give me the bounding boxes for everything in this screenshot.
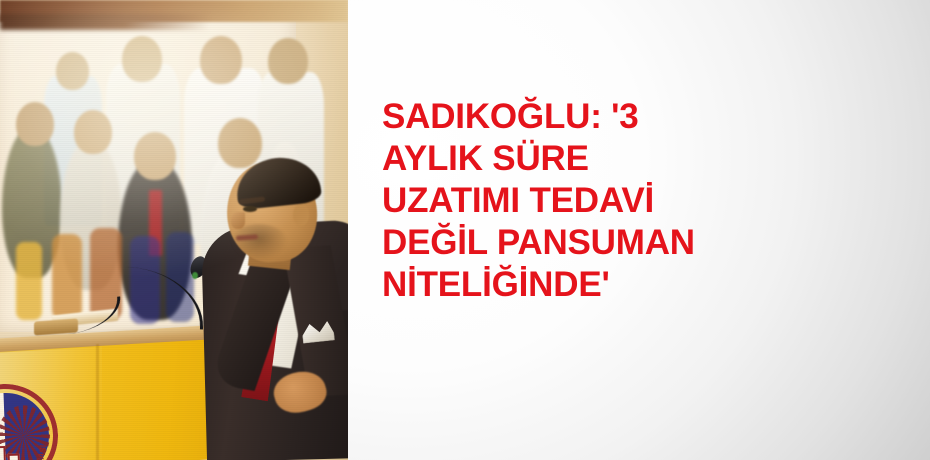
projected-person-head	[268, 38, 308, 84]
projected-person-head	[218, 118, 262, 168]
svg-text:TİCARET ve SANAYİ ODASI: TİCARET ve SANAYİ ODASI	[0, 444, 50, 460]
ceiling-shadow	[0, 14, 209, 30]
projected-person-head	[122, 36, 162, 82]
microphone-indicator-light	[192, 272, 198, 279]
projected-person-head	[74, 110, 112, 154]
headline-line-2: AYLIK SÜRE	[382, 138, 902, 180]
headline-line-4: DEĞİL PANSUMAN	[382, 222, 902, 264]
projected-person-head	[56, 52, 89, 90]
headline-line-3: UZATIMI TEDAVİ	[382, 180, 902, 222]
projected-person-head	[134, 132, 176, 180]
projected-object	[16, 242, 42, 320]
projected-person-head	[16, 102, 54, 146]
speaker-beard-shadow	[231, 224, 287, 260]
projected-person-head	[200, 36, 242, 84]
podium-corner	[96, 344, 99, 460]
headline: SADIKOĞLU: '3 AYLIK SÜRE UZATIMI TEDAVİ …	[382, 96, 902, 306]
speaker-ear	[293, 204, 309, 226]
chamber-logo-icon: TİCARET ve SANAYİ ODASI	[0, 382, 60, 460]
speaker-eye	[243, 206, 257, 212]
headline-line-5: NİTELİĞİNDE'	[382, 264, 902, 306]
news-thumbnail-card: TİCARET ve SANAYİ ODASI	[0, 0, 930, 460]
news-photo: TİCARET ve SANAYİ ODASI	[0, 0, 348, 460]
speaker-nose	[231, 212, 245, 229]
headline-line-1: SADIKOĞLU: '3	[382, 96, 902, 138]
